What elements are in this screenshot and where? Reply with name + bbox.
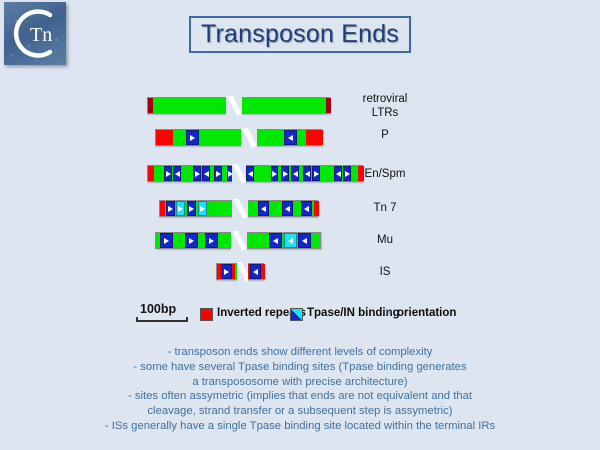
tpase-binding-site bbox=[258, 201, 269, 216]
orientation-arrow-right-icon bbox=[189, 206, 194, 212]
tpase-binding-site bbox=[250, 264, 261, 279]
orientation-arrow-right-icon bbox=[200, 206, 205, 212]
tpase-binding-site bbox=[291, 166, 299, 181]
orientation-arrow-left-icon bbox=[273, 238, 278, 244]
bullet-line: cleavage, strand transfer or a subsequen… bbox=[0, 404, 600, 419]
bullet-list: - transposon ends show different levels … bbox=[0, 345, 600, 434]
orientation-arrow-right-icon bbox=[209, 238, 214, 244]
row-label-is: IS bbox=[340, 265, 430, 279]
break-marker bbox=[237, 262, 248, 283]
tpase-binding-site bbox=[284, 233, 297, 248]
orientation-arrow-left-icon bbox=[288, 238, 293, 244]
row-label-en-spm: En/Spm bbox=[340, 167, 430, 181]
scalebar-line bbox=[136, 320, 188, 322]
tpase-binding-site bbox=[301, 201, 312, 216]
break-marker bbox=[232, 164, 246, 185]
tpase-binding-site bbox=[246, 166, 254, 181]
orientation-arrow-right-icon bbox=[195, 171, 200, 177]
orientation-arrow-right-icon bbox=[283, 171, 288, 177]
orientation-arrow-left-icon bbox=[302, 238, 307, 244]
break-marker bbox=[232, 199, 248, 220]
bullet-line: - sites often assymetric (implies that e… bbox=[0, 389, 600, 404]
orientation-arrow-right-icon bbox=[178, 206, 183, 212]
row-label-line: P bbox=[340, 128, 430, 142]
break-slash-icon bbox=[235, 199, 247, 218]
tpase-binding-site bbox=[164, 166, 172, 181]
break-slash-icon bbox=[234, 231, 246, 250]
inverted-repeat bbox=[156, 130, 173, 145]
orientation-arrow-right-icon bbox=[272, 171, 277, 177]
orientation-arrow-right-icon bbox=[166, 171, 171, 177]
tpase-binding-site bbox=[221, 264, 232, 279]
legend-swatch-tpase-in-binding bbox=[290, 308, 303, 321]
tpase-binding-site bbox=[176, 201, 185, 216]
row-label-line: Mu bbox=[340, 233, 430, 247]
orientation-arrow-right-icon bbox=[168, 206, 173, 212]
row-label-line: Tn 7 bbox=[340, 201, 430, 215]
orientation-arrow-left-icon bbox=[293, 171, 298, 177]
row-label-retroviral-ltrs: retroviralLTRs bbox=[340, 92, 430, 120]
tpase-binding-site bbox=[298, 233, 311, 248]
tpase-binding-site bbox=[205, 233, 218, 248]
inverted-repeat bbox=[306, 130, 323, 145]
bullet-line: - ISs generally have a single Tpase bind… bbox=[0, 419, 600, 434]
break-marker bbox=[226, 96, 242, 117]
row-label-line: IS bbox=[340, 265, 430, 279]
legend-swatch-inverted-repeats bbox=[200, 308, 213, 321]
tpase-binding-site bbox=[271, 166, 278, 181]
legend: 100bp Inverted repeatsTpase/IN binding>o… bbox=[0, 0, 600, 40]
orientation-arrow-right-icon bbox=[190, 135, 195, 141]
transposon-diagram: retroviralLTRsPEn/SpmTn 7MuIS bbox=[0, 0, 600, 300]
tpase-binding-site bbox=[185, 233, 198, 248]
bullet-line: - some have several Tpase binding sites … bbox=[0, 360, 600, 375]
inverted-repeat bbox=[148, 98, 153, 113]
tpase-binding-site bbox=[269, 233, 282, 248]
tpase-binding-site bbox=[193, 166, 201, 181]
legend-label-orientation: orientation bbox=[397, 307, 456, 319]
tpase-binding-site bbox=[166, 201, 175, 216]
element-retroviral-ltrs bbox=[147, 97, 330, 114]
orientation-arrow-left-icon bbox=[288, 135, 293, 141]
tpase-binding-site bbox=[281, 166, 289, 181]
orientation-arrow-left-icon bbox=[175, 171, 180, 177]
break-marker bbox=[241, 128, 257, 149]
inverted-repeat bbox=[160, 201, 165, 216]
row-label-tn7: Tn 7 bbox=[340, 201, 430, 215]
break-slash-icon bbox=[234, 164, 246, 183]
break-slash-icon bbox=[229, 96, 241, 115]
row-label-mu: Mu bbox=[340, 233, 430, 247]
inverted-repeat bbox=[314, 201, 319, 216]
orientation-arrow-left-icon bbox=[248, 171, 253, 177]
tpase-binding-site bbox=[202, 166, 210, 181]
row-label-line: En/Spm bbox=[340, 167, 430, 181]
scalebar-label: 100bp bbox=[140, 302, 176, 316]
orientation-arrow-left-icon bbox=[304, 206, 309, 212]
element-p-element bbox=[155, 129, 322, 146]
break-slash-icon bbox=[237, 262, 248, 281]
orientation-arrow-left-icon bbox=[261, 206, 266, 212]
orientation-arrow-right-icon bbox=[216, 171, 221, 177]
orientation-arrow-left-icon bbox=[305, 171, 310, 177]
orientation-arrow-left-icon bbox=[253, 269, 258, 275]
tpase-binding-site bbox=[198, 201, 207, 216]
orientation-arrow-left-icon bbox=[204, 171, 209, 177]
bullet-line: a transpososome with precise architectur… bbox=[0, 375, 600, 390]
orientation-arrow-right-icon bbox=[314, 171, 319, 177]
break-marker bbox=[231, 231, 247, 252]
inverted-repeat bbox=[148, 166, 154, 181]
tpase-binding-site bbox=[284, 130, 297, 145]
tpase-binding-site bbox=[214, 166, 222, 181]
tpase-binding-site bbox=[186, 130, 199, 145]
orientation-arrow-right-icon bbox=[189, 238, 194, 244]
element-mu bbox=[155, 232, 321, 249]
inverted-repeat bbox=[326, 98, 331, 113]
element-tn7 bbox=[159, 200, 318, 217]
tpase-binding-site bbox=[282, 201, 293, 216]
row-label-line: LTRs bbox=[340, 106, 430, 120]
element-en-spm bbox=[147, 165, 363, 182]
orientation-arrow-right-icon bbox=[164, 238, 169, 244]
tpase-binding-site bbox=[173, 166, 181, 181]
tpase-binding-site bbox=[160, 233, 173, 248]
tpase-binding-site bbox=[303, 166, 311, 181]
bullet-line: - transposon ends show different levels … bbox=[0, 345, 600, 360]
tpase-binding-site bbox=[312, 166, 320, 181]
orientation-arrow-left-icon bbox=[285, 206, 290, 212]
tpase-binding-site bbox=[187, 201, 196, 216]
row-label-line: retroviral bbox=[340, 92, 430, 106]
orientation-arrow-right-icon bbox=[224, 269, 229, 275]
row-label-p-element: P bbox=[340, 128, 430, 142]
element-is bbox=[216, 263, 264, 280]
break-slash-icon bbox=[244, 128, 256, 147]
legend-orientation-marker-icon: > bbox=[385, 307, 392, 319]
